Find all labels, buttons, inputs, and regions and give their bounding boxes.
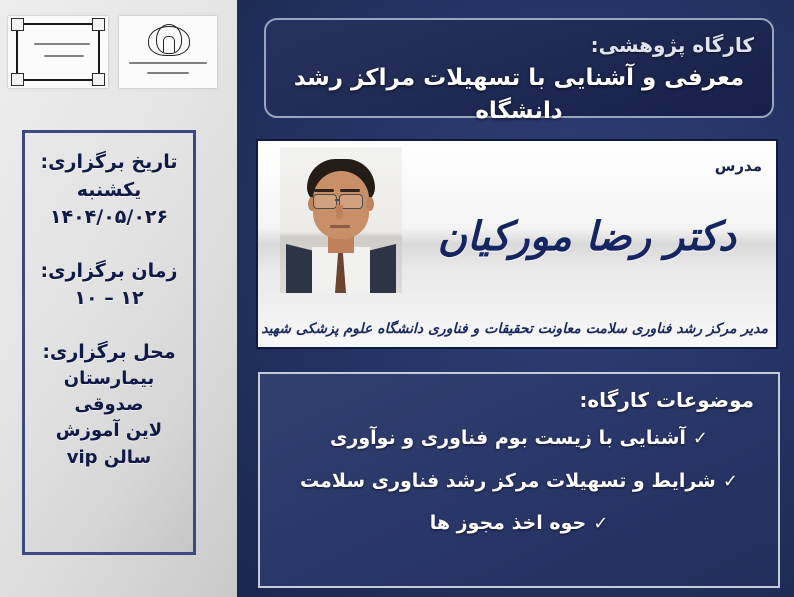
check-icon: ✓ (693, 427, 708, 451)
speaker-role-label: مدرس (715, 157, 762, 175)
photo-nose (336, 205, 343, 219)
topic-label: شرایط و تسهیلات مرکز رشد فناوری سلامت (300, 470, 716, 492)
logo-corner-icon (92, 73, 105, 86)
left-column: تاریخ برگزاری: یکشنبه ۱۴۰۴/۰۵/۰۲۶ زمان ب… (0, 0, 237, 597)
speaker-photo (280, 147, 402, 293)
photo-eyebrow-right (340, 189, 360, 192)
header-box: کارگاه پژوهشی: معرفی و آشنایی با تسهیلات… (264, 18, 774, 118)
place-line-2: لاین آموزش (31, 418, 187, 444)
photo-eyebrow-left (314, 189, 334, 192)
topic-label: حوه اخذ مجوز ها (430, 512, 586, 534)
topics-title: موضوعات کارگاه: (284, 388, 754, 412)
logo-strip (0, 0, 237, 105)
topic-list-item: ✓آشنایی با زیست بوم فناوری و نوآوری (284, 426, 754, 452)
photo-ear-right (366, 197, 374, 211)
date-label: تاریخ برگزاری: (31, 149, 187, 177)
logo-text-line (44, 55, 84, 57)
check-icon: ✓ (723, 470, 738, 494)
logo-corner-icon (92, 18, 105, 31)
research-ethics-committee-logo (8, 16, 108, 88)
place-line-1: بیمارستان صدوقی (31, 366, 187, 418)
photo-mouth (330, 225, 350, 228)
time-label: زمان برگزاری: (31, 258, 187, 286)
time-value: ۱۲ – ۱۰ (31, 285, 187, 313)
glasses-bridge (335, 199, 340, 201)
date-value: ۱۴۰۴/۰۵/۰۲۶ (31, 204, 187, 232)
workshop-poster: تاریخ برگزاری: یکشنبه ۱۴۰۴/۰۵/۰۲۶ زمان ب… (0, 0, 794, 597)
place-label: محل برگزاری: (31, 339, 187, 367)
university-crest-icon (148, 24, 188, 56)
speaker-card: مدرس دکتر رضا مورکیان مدیر مرکز رشد فناو… (256, 139, 778, 349)
logo-text-line (34, 43, 90, 45)
logo-frame (16, 23, 100, 81)
logo-text-line (129, 62, 207, 64)
topic-list-item: ✓شرایط و تسهیلات مرکز رشد فناوری سلامت (284, 469, 754, 495)
topic-label: آشنایی با زیست بوم فناوری و نوآوری (330, 427, 686, 449)
date-day: یکشنبه (31, 177, 187, 205)
header-kicker: کارگاه پژوهشی: (284, 32, 754, 58)
speaker-name: دکتر رضا مورکیان (438, 213, 736, 260)
place-line-3: سالن vip (31, 445, 187, 471)
speaker-affiliation: مدیر مرکز رشد فناوری سلامت معاونت تحقیقا… (266, 321, 768, 337)
logo-corner-icon (11, 18, 24, 31)
event-place-block: محل برگزاری: بیمارستان صدوقی لاین آموزش … (31, 339, 187, 471)
topics-box: موضوعات کارگاه: ✓آشنایی با زیست بوم فناو… (258, 372, 780, 588)
event-date-block: تاریخ برگزاری: یکشنبه ۱۴۰۴/۰۵/۰۲۶ (31, 149, 187, 232)
shahid-sadoughi-university-logo (119, 16, 217, 88)
topic-list-item: ✓حوه اخذ مجوز ها (284, 511, 754, 537)
glasses-icon (313, 194, 337, 209)
logo-text-line (147, 72, 189, 74)
logo-corner-icon (11, 73, 24, 86)
event-details-box: تاریخ برگزاری: یکشنبه ۱۴۰۴/۰۵/۰۲۶ زمان ب… (22, 130, 196, 555)
event-time-block: زمان برگزاری: ۱۲ – ۱۰ (31, 258, 187, 313)
crest-core-shape (163, 36, 175, 52)
right-panel: کارگاه پژوهشی: معرفی و آشنایی با تسهیلات… (237, 0, 794, 597)
check-icon: ✓ (593, 512, 608, 536)
page-title: معرفی و آشنایی با تسهیلات مراکز رشد دانش… (284, 62, 754, 129)
